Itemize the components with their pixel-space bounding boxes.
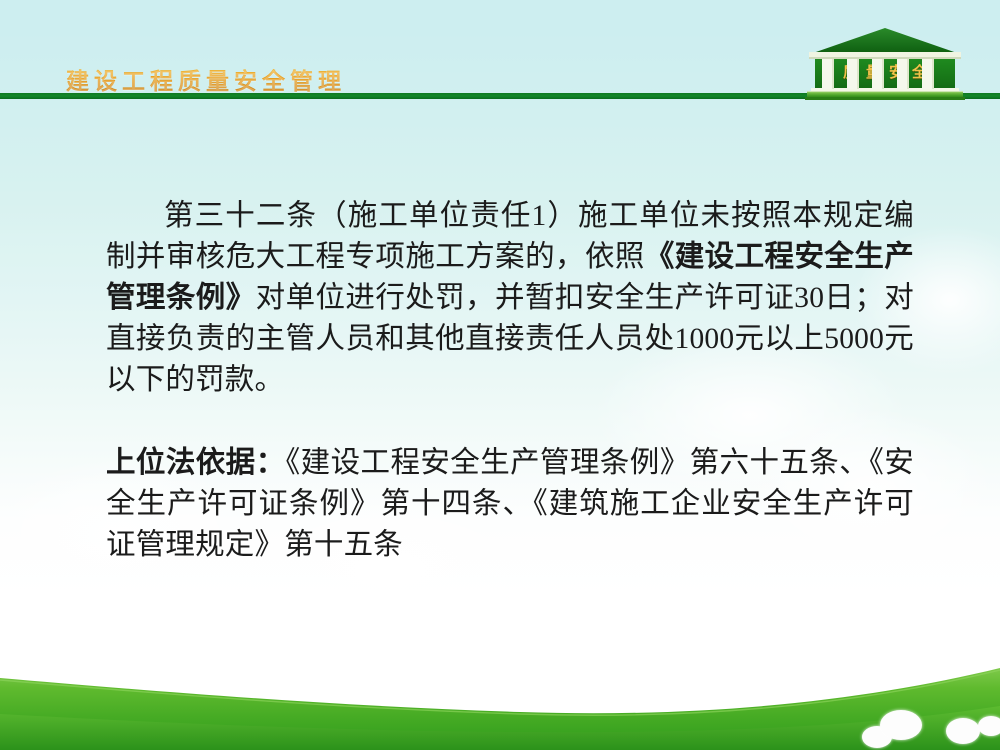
white-blob-decoration [946,718,980,744]
white-blob-decoration [880,710,922,740]
legal-basis-label: 上位法依据： [106,447,286,479]
page-title: 建设工程质量安全管理 [66,62,346,96]
paragraph-article-32: 第三十二条（施工单位责任1）施工单位未按照本规定编制并审核危大工程专项施工方案的… [106,196,914,401]
grass-field-decoration [0,610,1000,750]
paragraph-spacer [106,401,914,443]
paragraph-legal-basis: 上位法依据：《建设工程安全生产管理条例》第六十五条、《安全生产许可证条例》第十四… [106,443,914,566]
slide-body: 第三十二条（施工单位责任1）施工单位未按照本规定编制并审核危大工程专项施工方案的… [106,196,914,566]
white-blob-decoration [978,716,1000,736]
quality-safety-building-logo: 质量安全 [805,27,965,101]
slide: 建设工程质量安全管理 [0,0,1000,750]
logo-label: 质量安全 [805,61,965,82]
